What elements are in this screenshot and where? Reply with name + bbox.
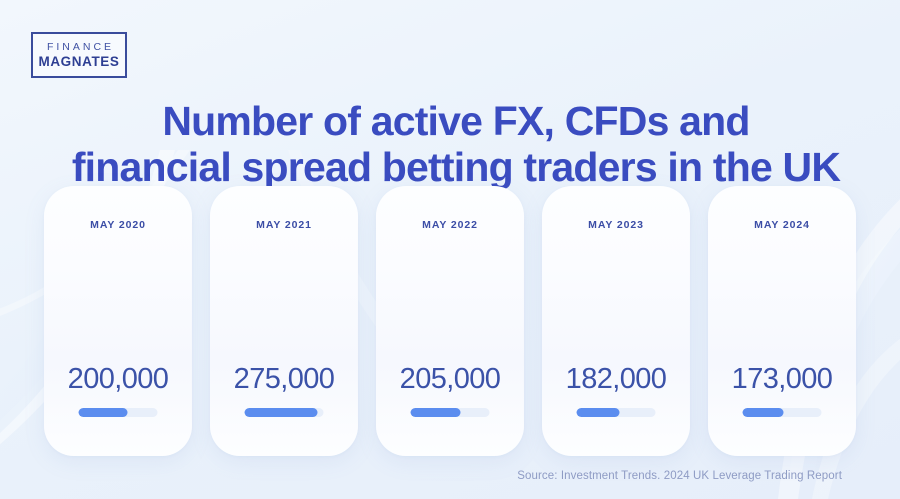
stat-card-bar-fill [411, 408, 461, 417]
stat-card-bar-track [245, 408, 324, 417]
finance-magnates-logo[interactable]: FINANCE MAGNATES [31, 32, 127, 78]
stat-card-bar-track [411, 408, 490, 417]
stat-card: MAY 2020 200,000 [44, 186, 192, 456]
stat-card: MAY 2024 173,000 [708, 186, 856, 456]
stat-card-value: 200,000 [44, 363, 192, 396]
stat-card: MAY 2021 275,000 [210, 186, 358, 456]
stat-card-bar-track [743, 408, 822, 417]
page-title: Number of active FX, CFDs and financial … [50, 99, 862, 191]
logo-line-finance: FINANCE [44, 41, 114, 54]
stat-card-label: MAY 2024 [708, 219, 856, 231]
stat-card-label: MAY 2022 [376, 219, 524, 231]
stat-card-label: MAY 2020 [44, 219, 192, 231]
title-line-1: Number of active FX, CFDs and [50, 99, 862, 145]
stat-card-bar-track [577, 408, 656, 417]
stat-card-bar-fill [245, 408, 318, 417]
stat-card: MAY 2022 205,000 [376, 186, 524, 456]
stat-card-label: MAY 2021 [210, 219, 358, 231]
stat-card-value: 173,000 [708, 363, 856, 396]
logo-line-magnates: MAGNATES [38, 54, 119, 70]
stat-card-bar-fill [577, 408, 620, 417]
infographic-canvas: FINANCE MAGNATES Number of active FX, CF… [0, 0, 900, 499]
source-attribution: Source: Investment Trends. 2024 UK Lever… [517, 470, 842, 482]
stat-card-bar-fill [79, 408, 128, 417]
stat-card-value: 205,000 [376, 363, 524, 396]
stat-card: MAY 2023 182,000 [542, 186, 690, 456]
stat-cards-row: MAY 2020 200,000 MAY 2021 275,000 MAY 20… [44, 186, 856, 456]
stat-card-value: 182,000 [542, 363, 690, 396]
stat-card-bar-fill [743, 408, 784, 417]
stat-card-label: MAY 2023 [542, 219, 690, 231]
stat-card-bar-track [79, 408, 158, 417]
title-line-2: financial spread betting traders in the … [50, 145, 862, 191]
stat-card-value: 275,000 [210, 363, 358, 396]
